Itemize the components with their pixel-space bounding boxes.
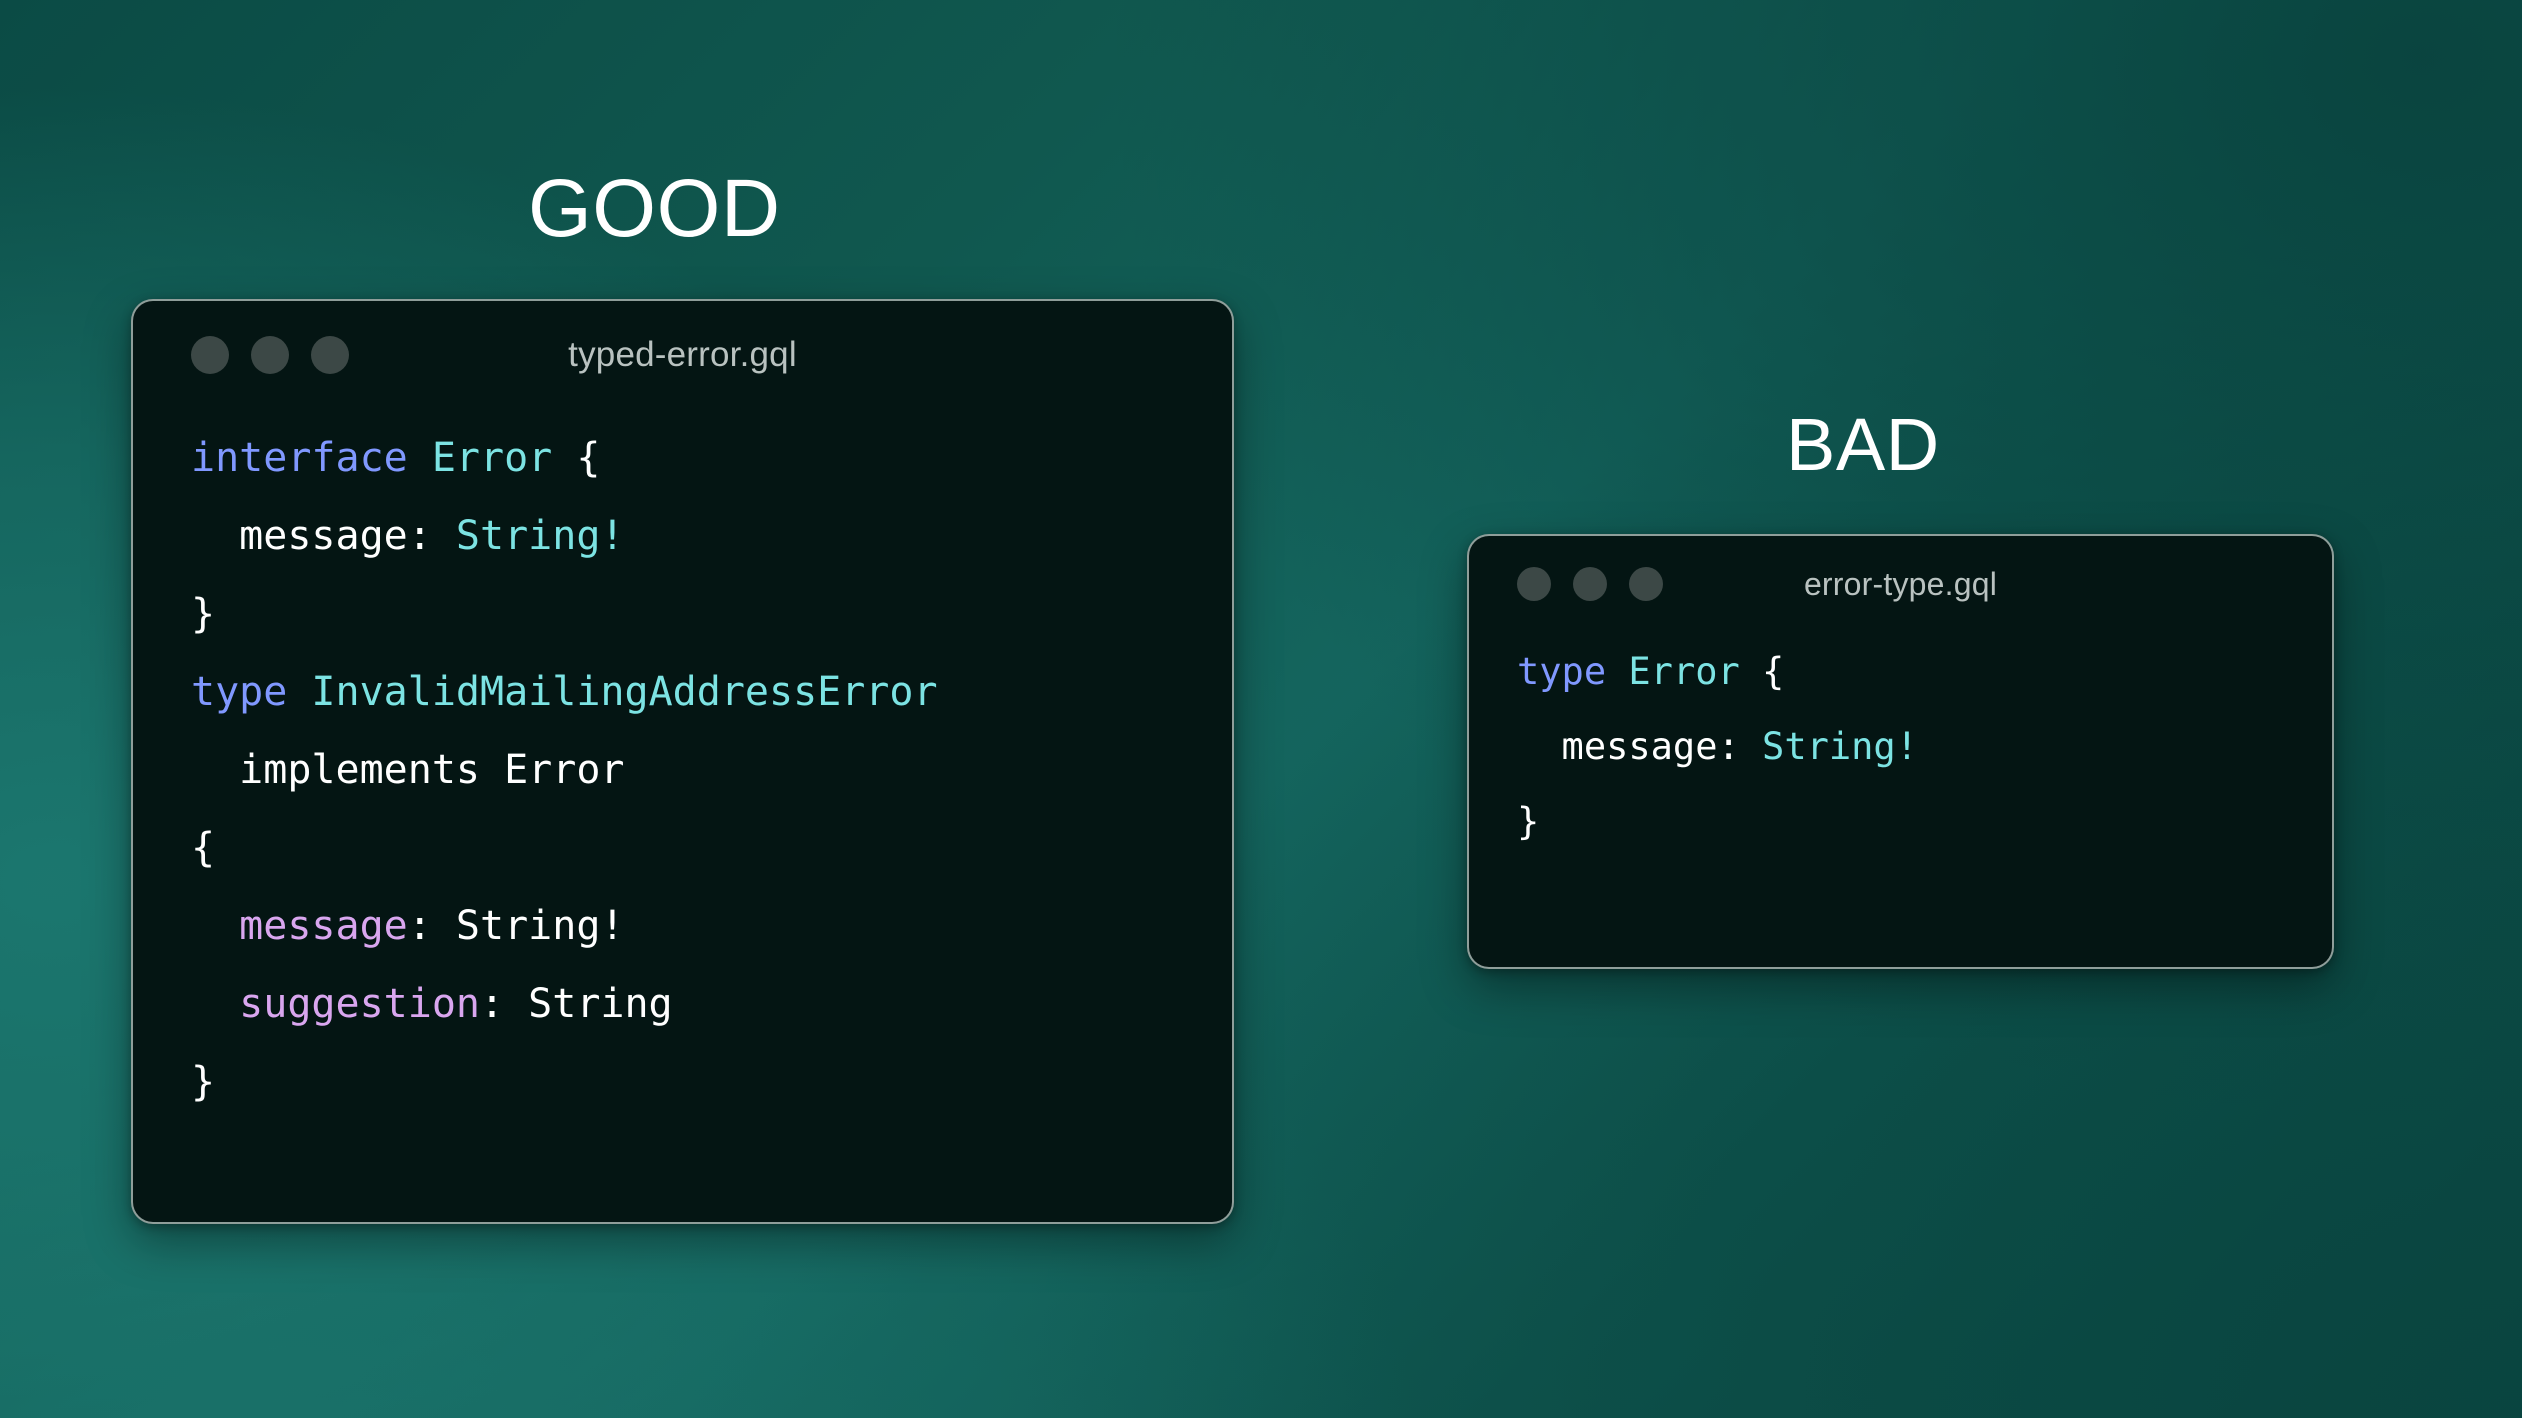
window-titlebar-bad: error-type.gql [1469, 536, 2332, 632]
code-token-punct: } [191, 1059, 215, 1105]
code-token-punct: } [1517, 800, 1539, 843]
code-window-good: typed-error.gql interface Error { messag… [131, 299, 1234, 1224]
traffic-light-minimize-icon[interactable] [251, 336, 289, 374]
code-token-keyword: type [191, 669, 311, 715]
code-line: { [191, 809, 1232, 887]
code-line: } [191, 1043, 1232, 1121]
traffic-light-minimize-icon[interactable] [1573, 567, 1607, 601]
slide-canvas: GOOD typed-error.gql interface Error { m… [0, 0, 2522, 1418]
code-token-punct: { [576, 435, 600, 481]
window-titlebar-good: typed-error.gql [133, 301, 1232, 409]
code-block-good: interface Error { message: String!}type … [133, 409, 1232, 1121]
code-token-punct: { [191, 825, 215, 871]
code-line: } [1517, 784, 2332, 859]
code-line: implements Error [191, 731, 1232, 809]
code-token-keyword: interface [191, 435, 432, 481]
code-token-keyword: type [1517, 650, 1628, 693]
traffic-lights-bad [1517, 567, 1663, 601]
code-token-implements: implements Error [191, 747, 624, 793]
code-token-field: suggestion [191, 981, 480, 1027]
code-block-bad: type Error { message: String!} [1469, 632, 2332, 859]
traffic-light-close-icon[interactable] [1517, 567, 1551, 601]
code-window-bad: error-type.gql type Error { message: Str… [1467, 534, 2334, 969]
traffic-lights-good [191, 336, 349, 374]
code-token-type: String! [456, 513, 625, 559]
code-token-type: Error [432, 435, 577, 481]
code-token-plain: message: [1517, 725, 1762, 768]
code-line: interface Error { [191, 419, 1232, 497]
code-line: suggestion: String [191, 965, 1232, 1043]
bad-section-heading: BAD [1786, 408, 1940, 482]
code-token-field: message [191, 903, 408, 949]
code-line: message: String! [191, 497, 1232, 575]
code-token-type: Error [1628, 650, 1762, 693]
code-token-type: String! [1762, 725, 1918, 768]
traffic-light-zoom-icon[interactable] [1629, 567, 1663, 601]
code-token-punct: } [191, 591, 215, 637]
traffic-light-zoom-icon[interactable] [311, 336, 349, 374]
code-line: message: String! [1517, 709, 2332, 784]
code-token-punct: { [1762, 650, 1784, 693]
good-section-heading: GOOD [528, 168, 781, 250]
code-token-plain: message: [191, 513, 456, 559]
traffic-light-close-icon[interactable] [191, 336, 229, 374]
code-line: type Error { [1517, 634, 2332, 709]
code-token-plain: : String [480, 981, 673, 1027]
code-token-plain: : String! [408, 903, 625, 949]
code-line: } [191, 575, 1232, 653]
code-line: message: String! [191, 887, 1232, 965]
code-token-type: InvalidMailingAddressError [311, 669, 937, 715]
code-line: type InvalidMailingAddressError [191, 653, 1232, 731]
